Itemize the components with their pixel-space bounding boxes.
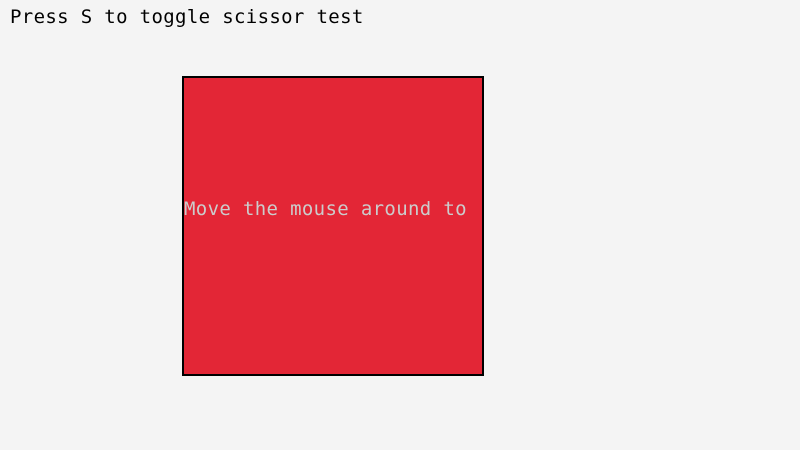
scissor-rectangle[interactable]: Move the mouse around to reveal the text — [182, 76, 484, 376]
clipped-instruction-text: Move the mouse around to reveal the text — [184, 198, 484, 220]
scissor-toggle-hint: Press S to toggle scissor test — [10, 6, 364, 28]
app-window: Press S to toggle scissor test Move the … — [0, 0, 800, 450]
